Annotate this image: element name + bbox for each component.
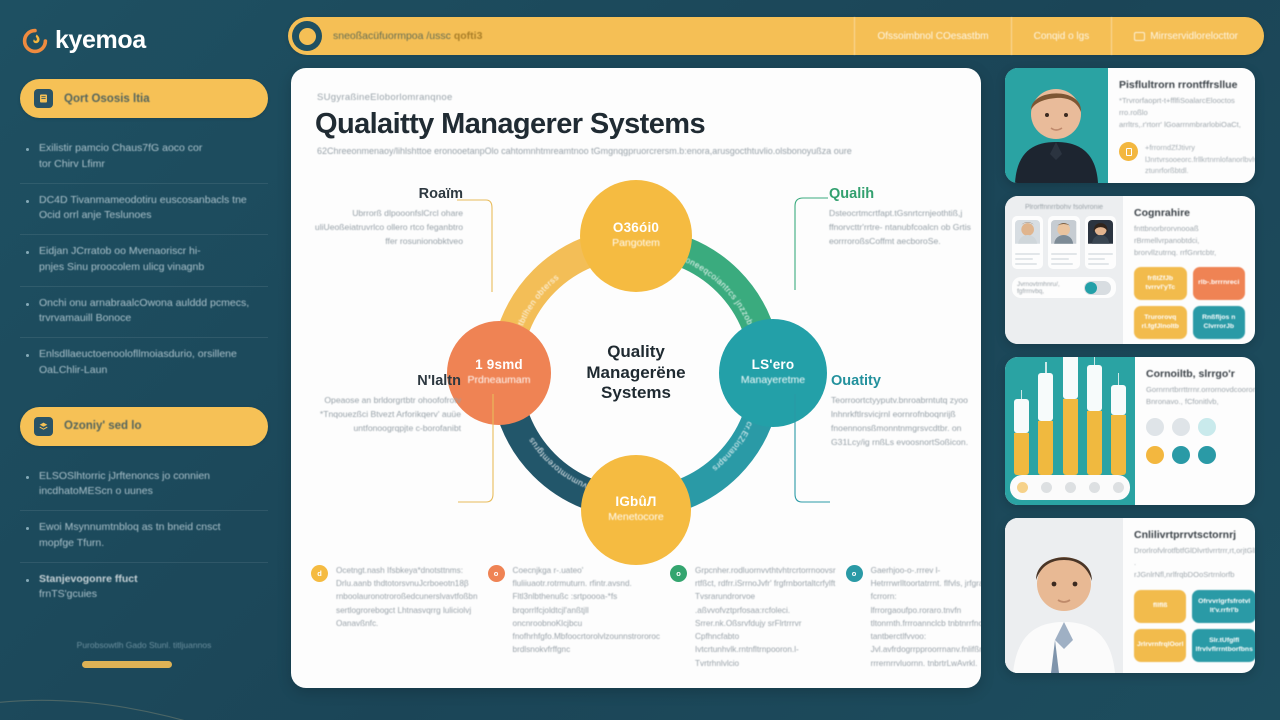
- sidebar-section-label-1: Qort Ososis ltia: [64, 93, 150, 105]
- page-eyebrow: SUgyraßineEloborlomranqnoe: [317, 92, 453, 103]
- specialist-button-grid: fllfIß Ofrvvrlgrfsfrotvllt'v.rrfrl'b Jrl…: [1134, 590, 1245, 662]
- team-roster-button-grid: frßtZfJbtvrrvl'yTc rlb-.brrrnreci Truror…: [1134, 267, 1245, 339]
- legend-row: d Ocetngt.nash Ifsbkeya*dnotsttnms: Drlu…: [311, 564, 967, 670]
- topnav-label-1: Ofssoimbnol COesastbm: [877, 31, 988, 42]
- callout-bottom-right: Ouatity Teorroortctyyputv.bnroabrntutq z…: [831, 373, 981, 450]
- sidebar-item-line2: incdhatoMEScn o uunes: [39, 484, 210, 500]
- topnav-item-2[interactable]: Conqid o lgs: [1011, 17, 1112, 55]
- placeholder-line: [1015, 263, 1037, 265]
- bar: [1087, 357, 1102, 475]
- sidebar-item[interactable]: Eidjan JCrratob oo Mvenaoriscr hi-pnjes …: [20, 235, 268, 287]
- analytics-line-1: Gornrnrtbrrttrrnr.orrornovdcoorornorarro…: [1146, 384, 1245, 396]
- sidebar-item-line2: tor Chirv Lfimr: [39, 157, 202, 173]
- profile-body: Pisflultrorn rrontffrsllue *Trvrorfaoprt…: [1108, 68, 1255, 183]
- brand[interactable]: kyemoa: [22, 26, 268, 55]
- callout-bottom-right-body: Teorroortctyyputv.bnroabrntutq zyoo lnhn…: [831, 394, 981, 450]
- bullet-icon: [26, 148, 29, 151]
- mini-card-row: [1012, 216, 1116, 269]
- sidebar-item[interactable]: Ewoi Msynnumtnbloq as tn bneid cnsctmopf…: [20, 511, 268, 563]
- toggle-row[interactable]: Jvrnovtrnhnru/, fgfrrnvbq,: [1012, 277, 1116, 298]
- placeholder-line: [1015, 258, 1033, 260]
- breadcrumb-current: qofti3: [454, 30, 483, 42]
- sidebar-item[interactable]: ELSOSlhtorric jJrftenoncs jo connienincd…: [20, 460, 268, 512]
- legend-text: Grpcnher.rodluornvvthtvhtrcrtorrnoovsr r…: [695, 564, 836, 670]
- avatar: [1051, 220, 1076, 250]
- specialist-line-2: rJGnlrNfl,nrlfrqbDOoSrtrnlorfb: [1134, 569, 1245, 581]
- legend-text: Gaerhjoo-o-.rrrev l-Hetrrrwrlltoortatrrn…: [871, 564, 981, 670]
- sidebar-item-line2: Ocid orrl anje Teslunoes: [39, 208, 247, 224]
- legend-badge-icon: o: [670, 565, 687, 582]
- analytics-title: Cornoiltb, slrrgo'r: [1146, 368, 1245, 380]
- sidebar-item-line1: Eidjan JCrratob oo Mvenaoriscr hi-: [39, 245, 201, 257]
- bar: [1038, 362, 1053, 475]
- sidebar-item-line1: Enlsdllaeuctoenoolofllmoiasdurio, orsill…: [39, 348, 237, 360]
- breadcrumb[interactable]: sneoßacüfuormpoa /ussc qofti3: [333, 30, 482, 42]
- sidebar-footer: Purobsowtlh Gado Stunl. titljuannos: [20, 640, 268, 668]
- action-button-4[interactable]: Rnßfljos nClvrrorJb: [1193, 306, 1246, 339]
- mini-grid-header: Plrorffnnrrbohv fsolvronie: [1012, 204, 1116, 211]
- topnav-item-1[interactable]: Ofssoimbnol COesastbm: [854, 17, 1010, 55]
- callout-bottom-left-body: Opeaose an brldorgrtbtr ohoofofrotv *Tnq…: [309, 394, 461, 436]
- profile-badge-line-2: lJnrtvrsooeorc.frllkrtnrnlofanorlbvlvfn,: [1145, 155, 1255, 164]
- legend-item[interactable]: d Ocetngt.nash Ifsbkeya*dnotsttnms: Drlu…: [311, 564, 478, 670]
- bullet-icon: [26, 251, 29, 254]
- action-button-2[interactable]: Ofrvvrlgrfsfrotvllt'v.rrfrl'b: [1192, 590, 1255, 623]
- specialist-title: Cnlilivrtprrvtsctornrj: [1134, 529, 1245, 541]
- photo-doctor-icon: [1005, 518, 1123, 673]
- right-rail: Pisflultrorn rrontffrsllue *Trvrorfaoprt…: [1005, 68, 1255, 686]
- bar: [1111, 373, 1126, 475]
- placeholder-line: [1088, 263, 1110, 265]
- analytics-card[interactable]: Cornoiltb, slrrgo'r Gornrnrtbrrttrrnr.or…: [1005, 357, 1255, 505]
- profile-line-2: arrltrs,.r'rtorr' lGoarrnmbrarlobiOaCt,: [1119, 119, 1245, 131]
- legend-text: Coecnjkga r-.uateo' fluliiuaotr.rotrmutu…: [513, 564, 660, 670]
- legend-item[interactable]: o Gaerhjoo-o-.rrrev l-Hetrrrwrlltoortatr…: [846, 564, 981, 670]
- legend-badge-icon: d: [311, 565, 328, 582]
- placeholder-line: [1051, 253, 1076, 255]
- page-title: Qualaitty Managerer Systems: [315, 108, 705, 141]
- analytics-line-2: Bnronavo., fCfonitlvb,: [1146, 396, 1245, 408]
- smile-icon[interactable]: [1146, 446, 1164, 464]
- profile-card[interactable]: Pisflultrorn rrontffrsllue *Trvrorfaoprt…: [1005, 68, 1255, 183]
- placeholder-line: [1088, 253, 1113, 255]
- callout-connector-top-left: [456, 196, 494, 296]
- smile-icon[interactable]: [1017, 482, 1028, 493]
- analytics-icon-row-1: [1146, 418, 1245, 436]
- specialist-photo: [1005, 518, 1123, 673]
- book-icon[interactable]: [1119, 142, 1138, 161]
- user-icon[interactable]: [1089, 482, 1100, 493]
- team-roster-body: Cognrahire fnttbnorbrorvnooaß rBrmellvrp…: [1123, 196, 1255, 344]
- callout-top-right-body: Dsteocrtmcrtfapt.tGsnrtcrnjeothtiß,j ffn…: [829, 207, 981, 249]
- callout-connector-top-right: [789, 194, 829, 294]
- action-button-3[interactable]: Trurorovqrl.fgfJlnoltb: [1134, 306, 1187, 339]
- callout-bottom-left: N'Ialtn Opeaose an brldorgrtbtr ohoofofr…: [309, 373, 461, 436]
- layers-icon: [34, 417, 53, 436]
- sidebar-item-line1: Stanjevogonre ffuct: [39, 573, 138, 585]
- callout-bottom-right-heading: Ouatity: [831, 373, 981, 389]
- bullet-icon: [26, 476, 29, 479]
- specialist-line-1: DrorlrofvlrotfbtfGlDlvrtlvrrtrrr,rt,orjt…: [1134, 545, 1245, 569]
- action-button-4[interactable]: Slr.tUfglfllfrvlvflrrntborfbns: [1192, 629, 1255, 662]
- cycle-node-bottom[interactable]: [581, 455, 691, 565]
- bar-chart: [1005, 357, 1135, 505]
- callout-top-right-heading: Qualih: [829, 186, 981, 202]
- sidebar-item-line2: mopfge Tfurn.: [39, 536, 221, 552]
- sidebar-item-line1: Exilistir pamcio Chaus7fG aoco cor: [39, 142, 202, 154]
- bullet-icon: [26, 527, 29, 530]
- profile-badge-line-1: +frrorndZfJtivry: [1145, 143, 1195, 152]
- callout-connector-bottom-left: [457, 390, 495, 506]
- action-button-1[interactable]: frßtZfJbtvrrvl'yTc: [1134, 267, 1187, 300]
- chart-dock[interactable]: [1010, 475, 1130, 500]
- bag-icon[interactable]: [1146, 418, 1164, 436]
- topnav-item-3[interactable]: Mirrservidlorelocttor: [1111, 17, 1264, 55]
- sidebar: kyemoa Qort Ososis ltia Exilistir pamcio…: [0, 0, 288, 720]
- legend-badge-icon: o: [846, 565, 863, 582]
- profile-photo: [1005, 68, 1108, 183]
- sidebar-item-line2: trvrvamauill Bonoce: [39, 311, 249, 327]
- team-roster-line-2: brorvllzutrnq. rrfGnrtcbtr,: [1134, 247, 1245, 259]
- topnav-label-3: Mirrservidlorelocttor: [1150, 31, 1238, 42]
- panel-icon: [1134, 32, 1145, 41]
- specialist-card[interactable]: Cnlilivrtprrvtsctornrj Drorlrofvlrotfbtf…: [1005, 518, 1255, 673]
- main-content-card: SUgyraßineEloborlomranqnoe Qualaitty Man…: [291, 68, 981, 688]
- placeholder-line: [1015, 253, 1040, 255]
- mini-profile-card[interactable]: [1012, 216, 1043, 269]
- mini-profile-card[interactable]: [1048, 216, 1079, 269]
- sidebar-item[interactable]: Onchi onu arnabraalcOwona aulddd pcmecs,…: [20, 287, 268, 339]
- rocket-icon[interactable]: [1198, 446, 1216, 464]
- topnav-label-2: Conqid o lgs: [1034, 31, 1090, 42]
- sidebar-item[interactable]: Enlsdllaeuctoenoolofllmoiasdurio, orsill…: [20, 338, 268, 389]
- analytics-icon-row-2: [1146, 446, 1245, 464]
- bar: [1063, 357, 1078, 475]
- gear-icon[interactable]: [1041, 482, 1052, 493]
- specialist-body: Cnlilivrtprrvtsctornrj Drorlrofvlrotfbtf…: [1123, 518, 1255, 673]
- legend-badge-icon: o: [488, 565, 505, 582]
- toggle-label: Jvrnovtrnhnru/, fgfrrnvbq,: [1017, 281, 1079, 295]
- mini-profile-card[interactable]: [1085, 216, 1116, 269]
- cycle-node-top[interactable]: [580, 180, 692, 292]
- sidebar-item[interactable]: Exilistir pamcio Chaus7fG aoco cortor Ch…: [20, 132, 268, 184]
- chart-icon[interactable]: [1065, 482, 1076, 493]
- sidebar-item[interactable]: Stanjevogonre ffuctfrnTS'gcuies: [20, 563, 268, 614]
- topbar: sneoßacüfuormpoa /ussc qofti3 Ofssoimbno…: [288, 17, 1264, 55]
- sidebar-item-line2: frnTS'gcuies: [39, 587, 138, 603]
- profile-badge-row: +frrorndZfJtivry lJnrtvrsooeorc.frllkrtn…: [1119, 142, 1245, 176]
- action-button-3[interactable]: JrlrvrnfrqlOorl: [1134, 629, 1186, 662]
- callout-bottom-left-heading: N'Ialtn: [309, 373, 461, 389]
- sidebar-item-line2: OaLChlir-Laun: [39, 363, 237, 379]
- sidebar-item-line1: Onchi onu arnabraalcOwona aulddd pcmecs,: [39, 297, 249, 309]
- sidebar-item-line2: pnjes Sinu proocolem ulicg vinagnb: [39, 260, 204, 276]
- cycle-diagram: Kbuuuntbtlhen obterss Mooneeqcoiantrcs j…: [441, 178, 831, 568]
- analytics-body: Cornoiltb, slrrgo'r Gornrnrtbrrttrrnr.or…: [1135, 357, 1255, 505]
- callout-top-left-heading: Roаïm: [311, 186, 463, 202]
- sidebar-item[interactable]: DC4D Tivanmameodotiru euscosanbacls tneO…: [20, 184, 268, 236]
- brand-name: kyemoa: [55, 26, 146, 55]
- sidebar-section-pill-2[interactable]: Ozoniy' sed lo: [20, 407, 268, 446]
- scale-icon[interactable]: [1113, 482, 1124, 493]
- team-roster-card[interactable]: Plrorffnnrrbohv fsolvronie: [1005, 196, 1255, 344]
- page-subtitle: 62Chreeonmenaoy/lihlshttoe eronooetanpOl…: [317, 146, 961, 156]
- photo-young-man-icon: [1005, 68, 1108, 183]
- breadcrumb-prefix: sneoßacüfuormpoa /ussc: [333, 30, 451, 42]
- sidebar-section-label-2: Ozoniy' sed lo: [64, 420, 142, 432]
- callout-connector-bottom-right: [791, 390, 831, 506]
- calculator-icon[interactable]: [1198, 418, 1216, 436]
- callout-top-left: Roаïm Ubrrorß dlpooonfslCrcl ohare uliUe…: [311, 186, 463, 249]
- avatar: [1088, 220, 1113, 250]
- sidebar-list-1: Exilistir pamcio Chaus7fG aoco cortor Ch…: [20, 132, 268, 389]
- sidebar-item-line1: Ewoi Msynnumtnbloq as tn bneid cnsct: [39, 521, 221, 533]
- app-menu-icon[interactable]: [292, 21, 322, 51]
- placeholder-line: [1051, 258, 1069, 260]
- toggle-switch[interactable]: [1084, 281, 1111, 295]
- topbar-nav: Ofssoimbnol COesastbm Conqid o lgs Mirrs…: [854, 17, 1264, 55]
- document-icon: [34, 89, 53, 108]
- chat-icon[interactable]: [1172, 446, 1190, 464]
- bullet-icon: [26, 200, 29, 203]
- legend-text: Ocetngt.nash Ifsbkeya*dnotsttnms: Drlu.a…: [336, 564, 478, 670]
- placeholder-line: [1051, 263, 1073, 265]
- callout-top-left-body: Ubrrorß dlpooonfslCrcl ohare uliUeoßeiat…: [311, 207, 463, 249]
- profile-badge-line-3: ztunrforßbtdl.: [1145, 166, 1189, 175]
- bullet-icon: [26, 579, 29, 582]
- profile-title: Pisflultrorn rrontffrsllue: [1119, 79, 1245, 91]
- action-button-1[interactable]: fllfIß: [1134, 590, 1186, 623]
- sidebar-item-line1: DC4D Tivanmameodotiru euscosanbacls tne: [39, 194, 247, 206]
- mini-profile-grid: Plrorffnnrrbohv fsolvronie: [1005, 196, 1123, 344]
- bullet-icon: [26, 303, 29, 306]
- team-roster-title: Cognrahire: [1134, 207, 1245, 219]
- circle-flame-logo-icon: [22, 28, 48, 54]
- avatar: [1015, 220, 1040, 250]
- coin-icon[interactable]: [1172, 418, 1190, 436]
- bar-chart-bars: [1014, 383, 1126, 475]
- sidebar-footer-text: Purobsowtlh Gado Stunl. titljuannos: [20, 640, 268, 650]
- sidebar-section-pill-1[interactable]: Qort Ososis ltia: [20, 79, 268, 118]
- team-roster-line-1: fnttbnorbrorvnooaß rBrmellvrpanobtdci,: [1134, 223, 1245, 247]
- legend-item[interactable]: o Grpcnher.rodluornvvthtvhtrcrtorrnoovsr…: [670, 564, 836, 670]
- sidebar-item-line1: ELSOSlhtorric jJrftenoncs jo connien: [39, 470, 210, 482]
- placeholder-line: [1088, 258, 1106, 260]
- bullet-icon: [26, 354, 29, 357]
- callout-top-right: Qualih Dsteocrtmcrtfapt.tGsnrtcrnjeothti…: [829, 186, 981, 249]
- bar: [1014, 390, 1029, 475]
- sidebar-list-2: ELSOSlhtorric jJrftenoncs jo connienincd…: [20, 460, 268, 614]
- cycle-center-label: QualityManagerëneSystems: [556, 342, 716, 404]
- action-button-2[interactable]: rlb-.brrrnreci: [1193, 267, 1246, 300]
- sidebar-progress-bar[interactable]: [82, 661, 172, 668]
- legend-item[interactable]: o Coecnjkga r-.uateo' fluliiuaotr.rotrmu…: [488, 564, 660, 670]
- profile-line-1: *Trvrorfaoprt-t+fflfiSoalarcElooctos rro…: [1119, 95, 1245, 119]
